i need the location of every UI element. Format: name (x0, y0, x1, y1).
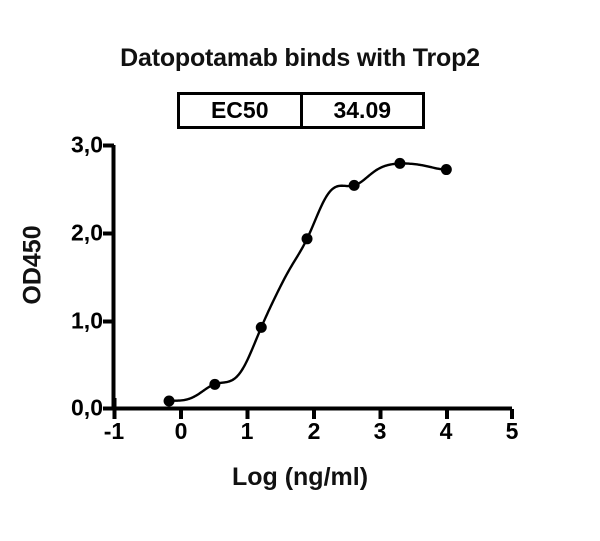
x-tick-label-3: 3 (374, 420, 387, 443)
y-tick-label-0: 0,0 (71, 397, 103, 420)
x-tick-label-1: 1 (241, 420, 254, 443)
plot-canvas (0, 0, 600, 541)
data-point-group (164, 158, 452, 407)
data-point (349, 180, 360, 191)
data-point (164, 395, 175, 406)
fit-curve (169, 163, 446, 400)
y-tick-label-3: 3,0 (71, 134, 103, 157)
data-point (209, 379, 220, 390)
data-point (302, 233, 313, 244)
x-tick-label-4: 4 (440, 420, 453, 443)
data-point (256, 322, 267, 333)
chart-figure: Datopotamab binds with Trop2 EC50 34.09 (0, 0, 600, 541)
x-tick-label-5: 5 (506, 420, 519, 443)
y-tick-label-2: 2,0 (71, 222, 103, 245)
data-point (394, 158, 405, 169)
x-tick-label-2: 2 (308, 420, 321, 443)
x-tick-label-0: 0 (175, 420, 188, 443)
data-point (441, 164, 452, 175)
y-axis-title: OD450 (19, 225, 48, 304)
x-tick-label-minus1: -1 (104, 420, 124, 443)
x-axis-title: Log (ng/ml) (0, 463, 600, 492)
y-tick-label-1: 1,0 (71, 310, 103, 333)
